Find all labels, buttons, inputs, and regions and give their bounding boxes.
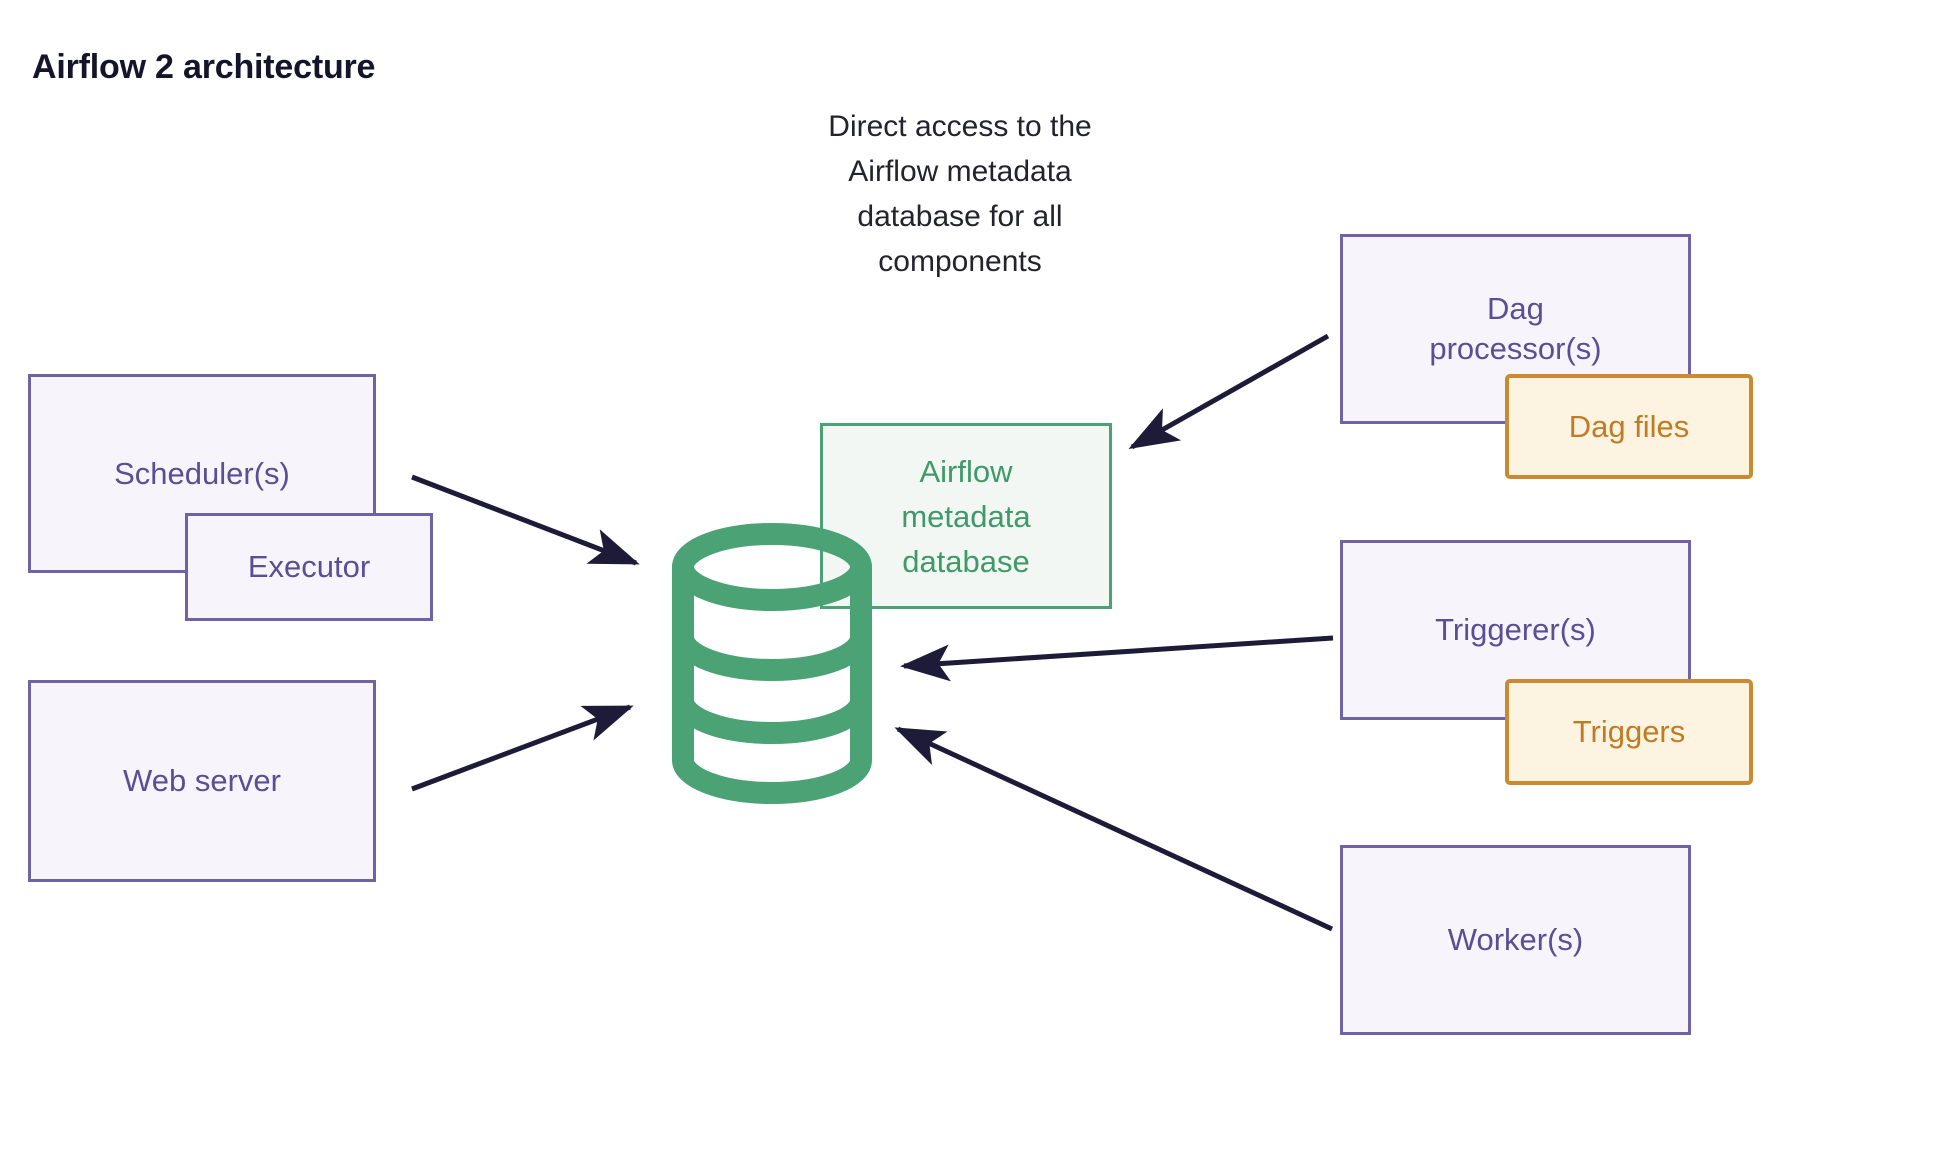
database-caption: Direct access to the Airflow metadata da…	[790, 104, 1130, 284]
arrow-worker-to-database	[898, 729, 1332, 929]
node-dag-files[interactable]: Dag files	[1505, 374, 1753, 479]
node-triggers-label: Triggers	[1573, 712, 1686, 752]
arrow-dagprocessor-to-database	[1132, 336, 1328, 447]
node-web-server[interactable]: Web server	[28, 680, 376, 882]
node-dag-files-label: Dag files	[1569, 407, 1690, 447]
node-executor[interactable]: Executor	[185, 513, 433, 621]
arrow-scheduler-to-database	[412, 477, 636, 563]
node-dag-processor-label: Dag processor(s)	[1429, 289, 1601, 369]
page-title: Airflow 2 architecture	[32, 48, 375, 87]
node-triggers[interactable]: Triggers	[1505, 679, 1753, 785]
diagram-canvas: Airflow 2 architecture Direct access to …	[0, 0, 1940, 1162]
node-worker-label: Worker(s)	[1448, 920, 1583, 960]
arrow-webserver-to-database	[412, 707, 630, 789]
node-triggerer-label: Triggerer(s)	[1435, 610, 1596, 650]
arrow-triggerer-to-database	[904, 638, 1333, 666]
database-cylinder-icon	[660, 522, 884, 816]
node-metadata-database-label: Airflow metadata database	[901, 449, 1030, 584]
node-worker[interactable]: Worker(s)	[1340, 845, 1691, 1035]
node-scheduler-label: Scheduler(s)	[114, 454, 290, 494]
node-executor-label: Executor	[248, 547, 370, 587]
node-web-server-label: Web server	[123, 761, 281, 801]
